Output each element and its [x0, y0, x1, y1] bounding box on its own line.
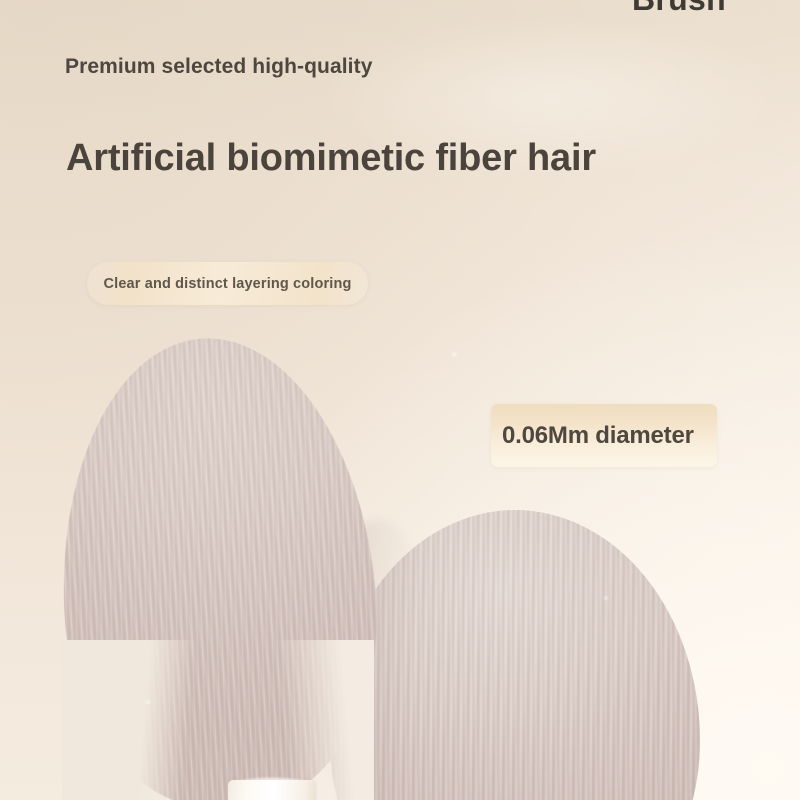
feature-pill-label: Clear and distinct layering coloring: [104, 276, 352, 292]
clipped-brush-title: Brush: [632, 0, 726, 18]
subtitle-text: Premium selected high-quality: [65, 55, 372, 79]
diameter-tag-label: 0.06Mm diameter: [491, 422, 694, 450]
diameter-tag-badge: 0.06Mm diameter: [491, 404, 717, 467]
product-feature-banner: Brush Premium selected high-quality Arti…: [0, 0, 800, 800]
feature-pill-badge: Clear and distinct layering coloring: [87, 262, 368, 305]
page-title: Artificial biomimetic fiber hair: [66, 137, 596, 180]
